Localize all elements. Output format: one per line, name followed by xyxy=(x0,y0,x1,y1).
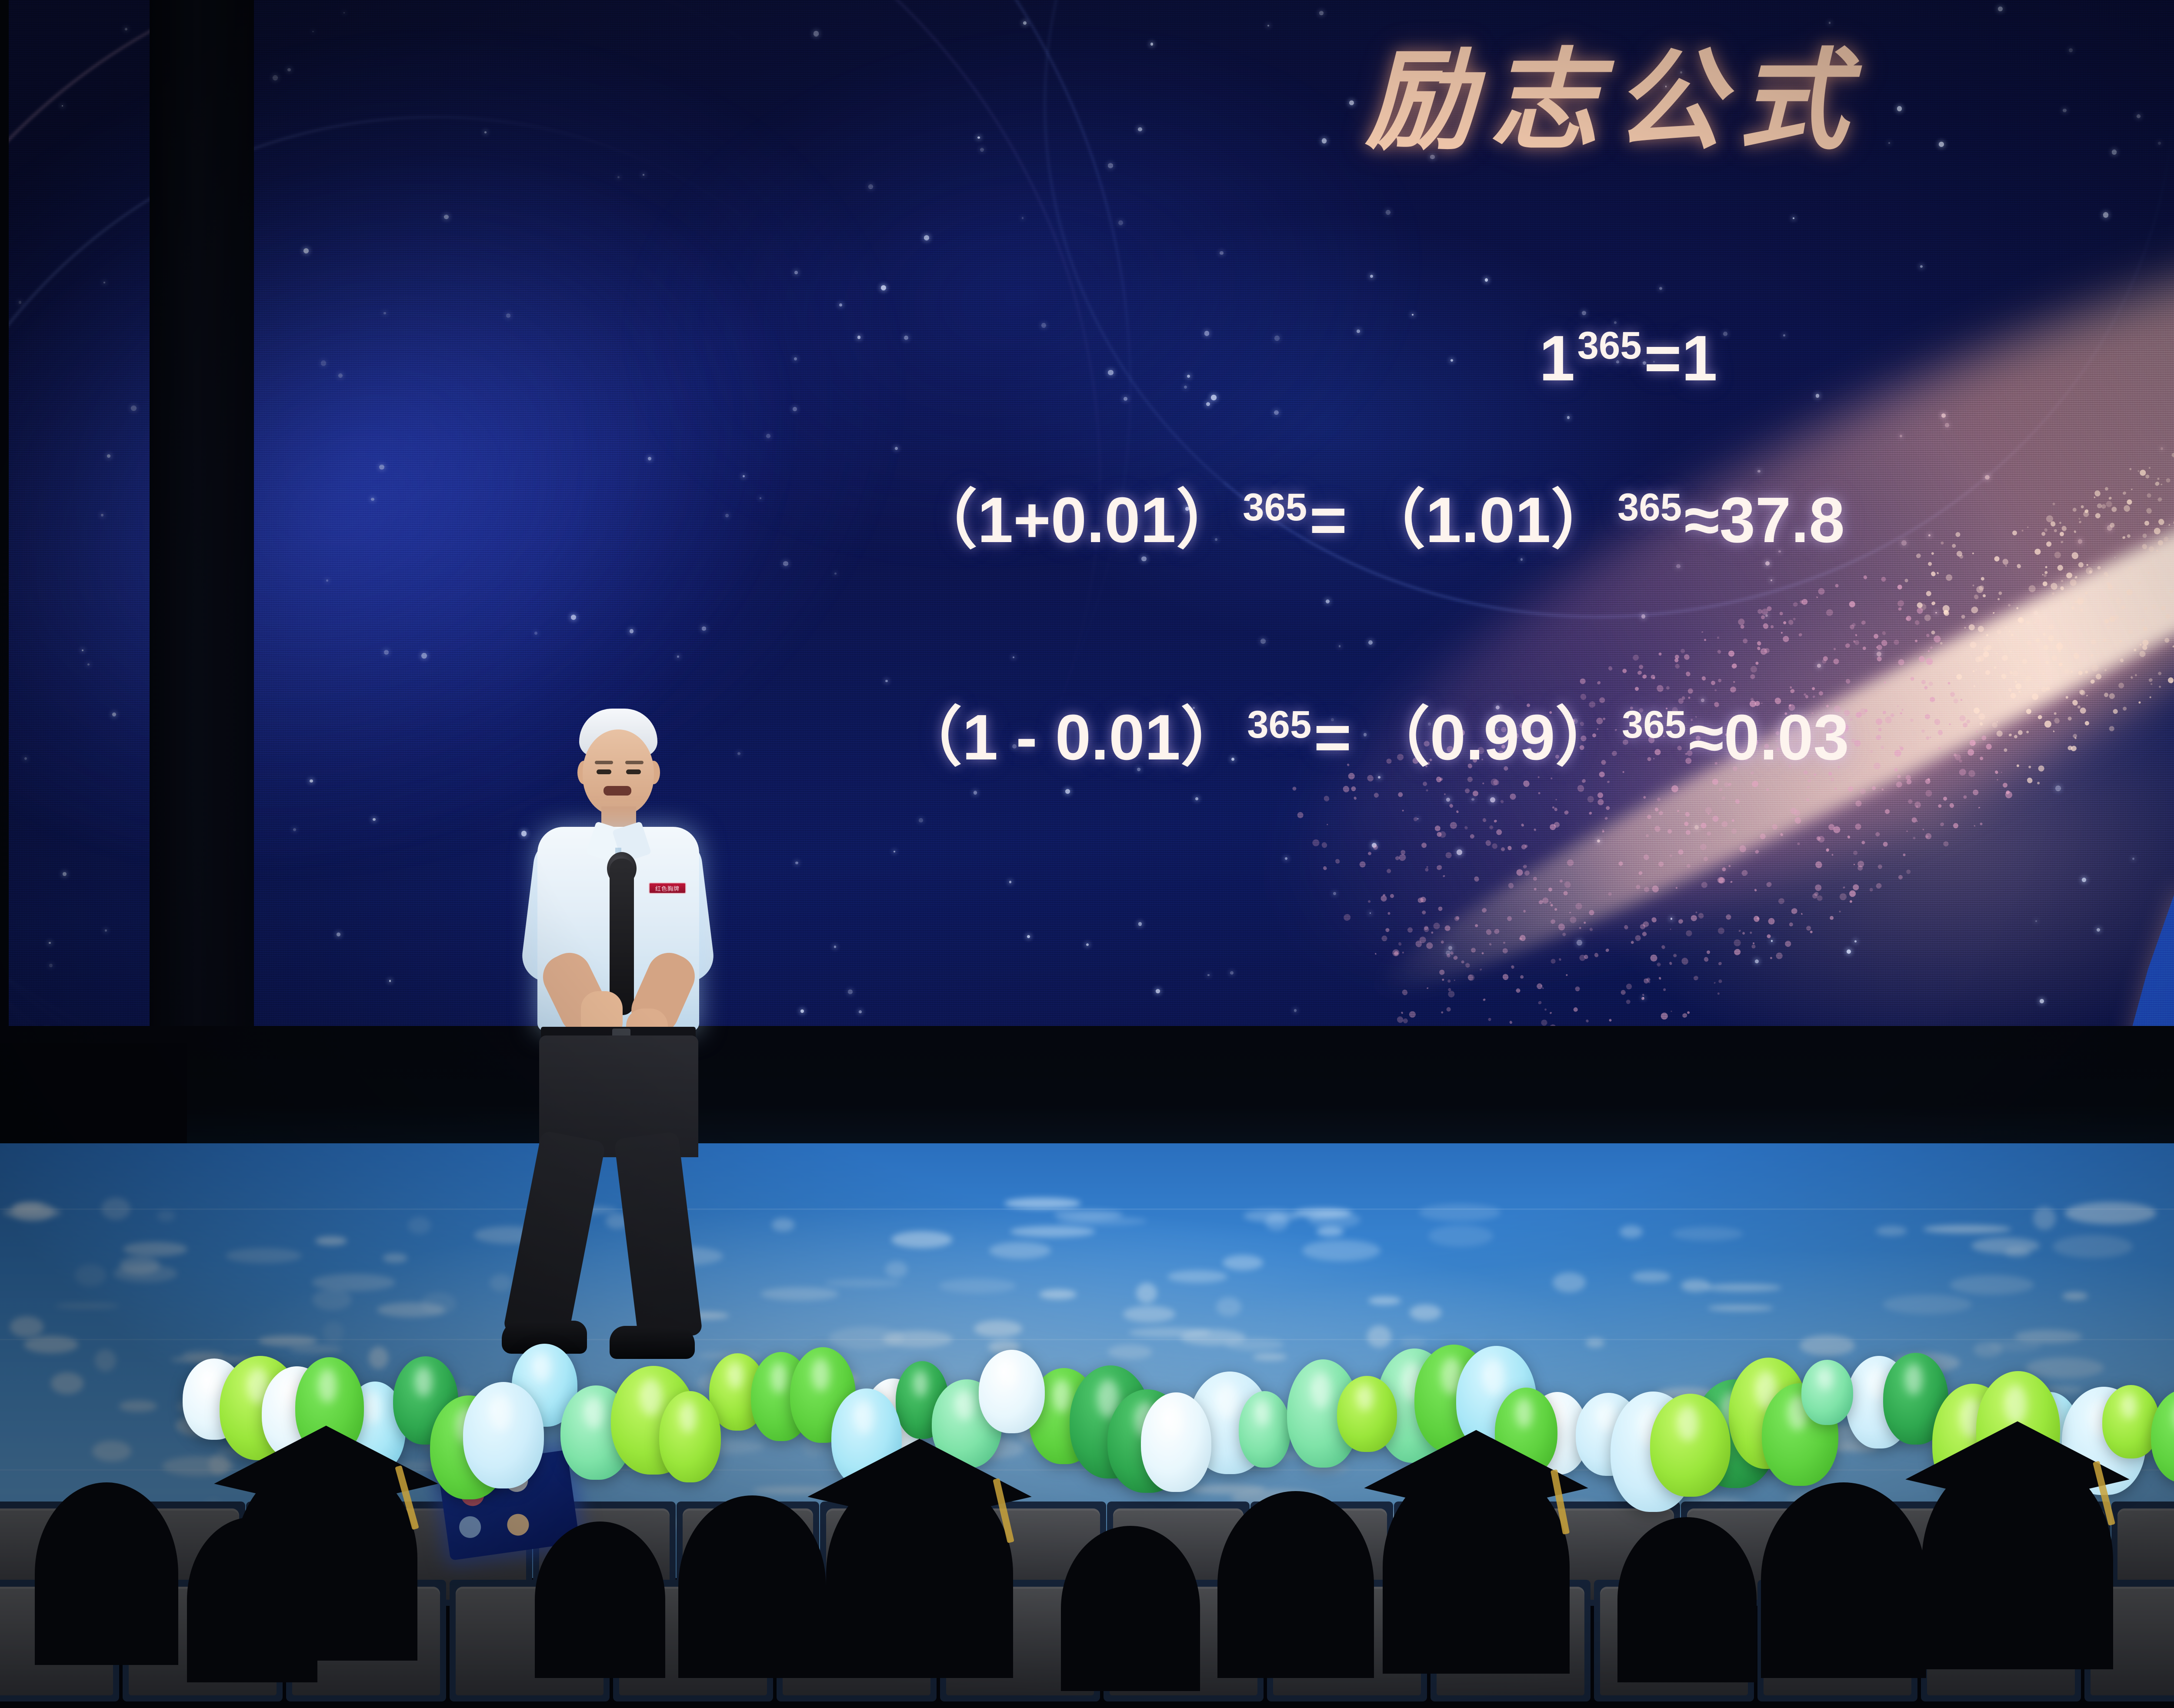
formula-2-result: 37.8 xyxy=(1720,484,1845,556)
speaker-figure: 红色胸牌 xyxy=(496,709,739,1369)
formula-2-approx: ≈ xyxy=(1684,484,1719,556)
speaker-brow-left xyxy=(595,761,613,764)
speaker-brow-right xyxy=(625,761,644,764)
audience-person-silhouette xyxy=(35,1482,178,1665)
slide-title: 励志公式 xyxy=(1365,46,2044,155)
speaker-name-badge-label: 红色胸牌 xyxy=(651,885,684,891)
formula-2-exponent-left: 365 xyxy=(1243,486,1307,529)
stage-pillar xyxy=(150,0,254,1067)
formula-3-base-left: （1 - 0.01） xyxy=(898,702,1245,773)
formula-2-base-right: （1.01） xyxy=(1361,484,1615,556)
formula-line-3: （1 - 0.01）365=（0.99）365≈0.03 xyxy=(898,685,1849,778)
formula-line-1: 1365=1 xyxy=(1539,322,1717,396)
led-screen: 励志公式 1365=1 （1+0.01）365=（1.01）365≈37.8 （… xyxy=(0,0,2174,1067)
formula-3-base-right: （0.99） xyxy=(1366,702,1620,773)
formula-1-base: 1 xyxy=(1539,323,1575,394)
microphone-body xyxy=(610,859,634,1015)
formula-3-result: 0.03 xyxy=(1724,702,1849,773)
speaker-leg-right xyxy=(614,1132,703,1342)
balloon-icon xyxy=(463,1382,544,1488)
formula-3-exponent-left: 365 xyxy=(1247,703,1311,746)
formula-1-result: 1 xyxy=(1682,323,1717,394)
speaker-shoe-right xyxy=(610,1326,695,1359)
formula-1-exponent: 365 xyxy=(1577,324,1642,367)
stage-photo: 励志公式 1365=1 （1+0.01）365=（1.01）365≈37.8 （… xyxy=(0,0,2174,1708)
audience-person-silhouette xyxy=(1061,1526,1200,1691)
formula-2-relation: = xyxy=(1310,484,1347,556)
balloon-icon xyxy=(1801,1360,1853,1425)
speaker-name-badge: 红色胸牌 xyxy=(649,882,686,894)
speaker-leg-left xyxy=(503,1130,606,1343)
audience-person-silhouette xyxy=(535,1522,665,1678)
formula-3-approx: ≈ xyxy=(1689,702,1724,773)
formula-2-exponent-right: 365 xyxy=(1617,486,1682,529)
balloon-icon xyxy=(1141,1392,1212,1492)
balloon-icon xyxy=(1650,1394,1731,1497)
speaker-eye-left xyxy=(597,769,611,774)
formula-1-relation: = xyxy=(1644,323,1681,394)
formula-3-exponent-right: 365 xyxy=(1622,703,1686,746)
formula-3-relation: = xyxy=(1314,702,1351,773)
balloon-icon xyxy=(659,1391,720,1482)
speaker-mouth xyxy=(604,786,631,796)
balloon-icon xyxy=(979,1350,1045,1433)
formula-2-base-left: （1+0.01） xyxy=(913,484,1240,556)
audience-person-silhouette xyxy=(1617,1517,1757,1682)
speaker-head xyxy=(583,729,654,816)
audience-person-silhouette xyxy=(1217,1491,1374,1678)
audience-person-silhouette xyxy=(1761,1482,1926,1678)
formula-line-2: （1+0.01）365=（1.01）365≈37.8 xyxy=(913,467,1845,561)
speaker-eye-right xyxy=(626,769,641,774)
balloon-icon xyxy=(1239,1391,1290,1467)
wall-left-edge xyxy=(0,0,9,1067)
